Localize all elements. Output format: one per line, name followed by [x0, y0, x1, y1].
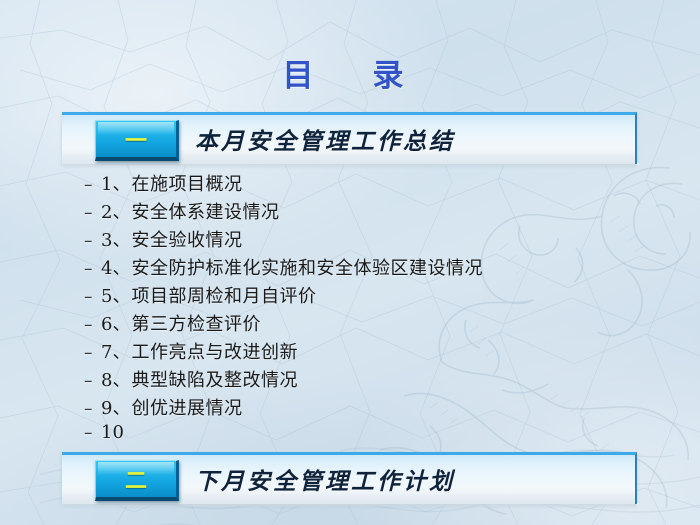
- bullet-dash-icon: –: [84, 259, 101, 279]
- list-item[interactable]: – 10: [84, 422, 624, 450]
- bullet-dash-icon: –: [84, 423, 101, 443]
- toc-list: – 1、 在施项目概况 – 2、 安全体系建设情况 – 3、 安全验收情况 – …: [84, 170, 624, 450]
- bullet-dash-icon: –: [84, 371, 101, 391]
- list-item[interactable]: – 1、 在施项目概况: [84, 170, 624, 198]
- list-item-number: 6、: [101, 310, 130, 336]
- list-item-label: 安全体系建设情况: [131, 198, 279, 224]
- bullet-dash-icon: –: [84, 315, 101, 335]
- section-marker-label-1: 一: [96, 121, 176, 157]
- list-item-number: 3、: [101, 226, 130, 252]
- list-item-label: 典型缺陷及整改情况: [131, 366, 298, 392]
- list-item-number: 8、: [101, 366, 130, 392]
- section-marker-button-2[interactable]: 二: [95, 460, 179, 501]
- list-item[interactable]: – 8、 典型缺陷及整改情况: [84, 366, 624, 394]
- list-item[interactable]: – 2、 安全体系建设情况: [84, 198, 624, 226]
- list-item-label: 安全验收情况: [131, 226, 242, 252]
- list-item-number: 10: [101, 422, 124, 443]
- list-item-number: 1、: [101, 170, 130, 196]
- list-item[interactable]: – 6、 第三方检查评价: [84, 310, 624, 338]
- list-item-label: 安全防护标准化实施和安全体验区建设情况: [131, 254, 483, 280]
- list-item-number: 2、: [101, 198, 130, 224]
- section-header-2[interactable]: 二 下月安全管理工作计划: [62, 452, 637, 504]
- list-item-label: 第三方检查评价: [131, 310, 261, 336]
- section-marker-button-1[interactable]: 一: [95, 120, 179, 161]
- list-item-number: 7、: [101, 338, 130, 364]
- section-marker-label-2: 二: [96, 461, 176, 497]
- list-item[interactable]: – 7、 工作亮点与改进创新: [84, 338, 624, 366]
- list-item-number: 5、: [101, 282, 130, 308]
- bullet-dash-icon: –: [84, 399, 101, 419]
- list-item-number: 9、: [101, 394, 130, 420]
- bullet-dash-icon: –: [84, 231, 101, 251]
- list-item[interactable]: – 4、 安全防护标准化实施和安全体验区建设情况: [84, 254, 624, 282]
- list-item-label: 工作亮点与改进创新: [131, 338, 298, 364]
- section-heading-1: 本月安全管理工作总结: [195, 115, 455, 163]
- list-item-label: 创优进展情况: [131, 394, 242, 420]
- list-item-label: 项目部周检和月自评价: [131, 282, 316, 308]
- bullet-dash-icon: –: [84, 175, 101, 195]
- section-heading-2: 下月安全管理工作计划: [195, 455, 455, 503]
- bullet-dash-icon: –: [84, 287, 101, 307]
- list-item[interactable]: – 3、 安全验收情况: [84, 226, 624, 254]
- list-item-number: 4、: [101, 254, 130, 280]
- page-title: 目 录: [0, 50, 700, 95]
- list-item[interactable]: – 9、 创优进展情况: [84, 394, 624, 422]
- list-item[interactable]: – 5、 项目部周检和月自评价: [84, 282, 624, 310]
- presentation-slide: 目 录 一 本月安全管理工作总结 – 1、 在施项目概况 – 2、 安全体系建设…: [0, 0, 700, 525]
- section-header-1[interactable]: 一 本月安全管理工作总结: [62, 112, 637, 164]
- bullet-dash-icon: –: [84, 343, 101, 363]
- bullet-dash-icon: –: [84, 203, 101, 223]
- list-item-label: 在施项目概况: [131, 170, 242, 196]
